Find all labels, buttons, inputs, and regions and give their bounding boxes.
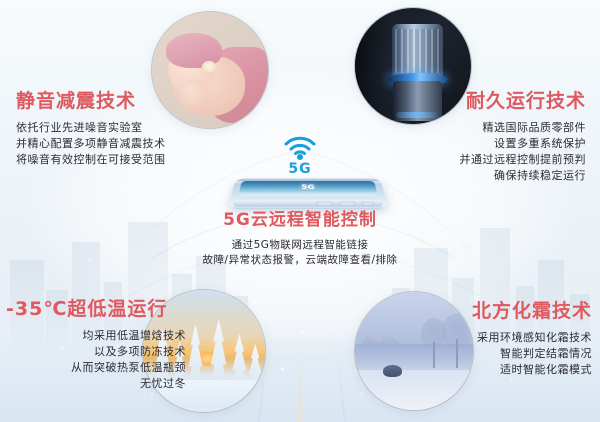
feature-line: 智能判定结霜情况 — [406, 346, 592, 362]
feature-title-durable: 耐久运行技术 — [406, 92, 586, 111]
feature-line: 精选国际品质零部件 — [406, 120, 586, 136]
feature-line: 依托行业先进噪音实验室 — [16, 120, 188, 136]
feature-block-defrost: 北方化霜技术 采用环境感知化霜技术 智能判定结霜情况 适时智能化霜模式 — [406, 302, 592, 378]
feature-line: 从而突破热泵低温瓶颈 — [6, 360, 186, 376]
phone-screen-label: 5G — [239, 184, 376, 191]
sparkle-dot — [516, 262, 520, 266]
baby-hat-shape — [166, 33, 222, 68]
smartphone-device: 5G — [228, 178, 388, 209]
feature-line: 适时智能化霜模式 — [406, 362, 592, 378]
sparkle-dot — [280, 366, 285, 371]
wifi-signal-icon — [283, 136, 317, 160]
feature-title-defrost: 北方化霜技术 — [406, 302, 592, 321]
five-g-badge: 5G — [0, 136, 600, 177]
center-line: 通过5G物联网远程智能链接 — [150, 238, 450, 253]
lake-rock — [383, 365, 402, 377]
phone-screen: 5G — [238, 181, 377, 196]
feature-line: 均采用低温增焓技术 — [6, 328, 186, 344]
compressor-shadow — [355, 8, 390, 124]
compressor-cylinder — [392, 24, 443, 77]
five-g-badge-label: 5G — [0, 161, 600, 177]
sparkle-dot — [300, 330, 304, 334]
phone-bottom-edge — [233, 200, 383, 207]
center-text-block: 5G云远程智能控制 通过5G物联网远程智能链接 故障/异常状态报警，云端故障查看… — [150, 212, 450, 268]
feature-line: 采用环境感知化霜技术 — [406, 330, 592, 346]
center-title: 5G云远程智能控制 — [150, 212, 450, 229]
road-center-line — [299, 356, 302, 422]
sparkle-dot — [88, 258, 92, 262]
feature-title-quiet: 静音减震技术 — [16, 92, 188, 111]
feature-line: 无忧过冬 — [6, 376, 186, 392]
sparkle-dot — [510, 378, 513, 381]
center-line: 故障/异常状态报警，云端故障查看/排除 — [150, 253, 450, 268]
feature-block-lowtemp: -35℃超低温运行 均采用低温增焓技术 以及多项防冻技术 从而突破热泵低温瓶颈 … — [6, 300, 186, 392]
sparkle-dot — [478, 224, 481, 227]
sparkle-dot — [340, 282, 343, 285]
phone-port-1 — [316, 202, 333, 206]
phone-port-2 — [339, 202, 356, 206]
infographic-canvas: 静音减震技术 依托行业先进噪音实验室 并精心配置多项静音减震技术 将噪音有效控制… — [0, 0, 600, 422]
feature-title-lowtemp: -35℃超低温运行 — [6, 300, 186, 319]
feature-line: 以及多项防冻技术 — [6, 344, 186, 360]
sparkle-dot — [132, 286, 135, 289]
phone-port-3 — [361, 202, 374, 206]
